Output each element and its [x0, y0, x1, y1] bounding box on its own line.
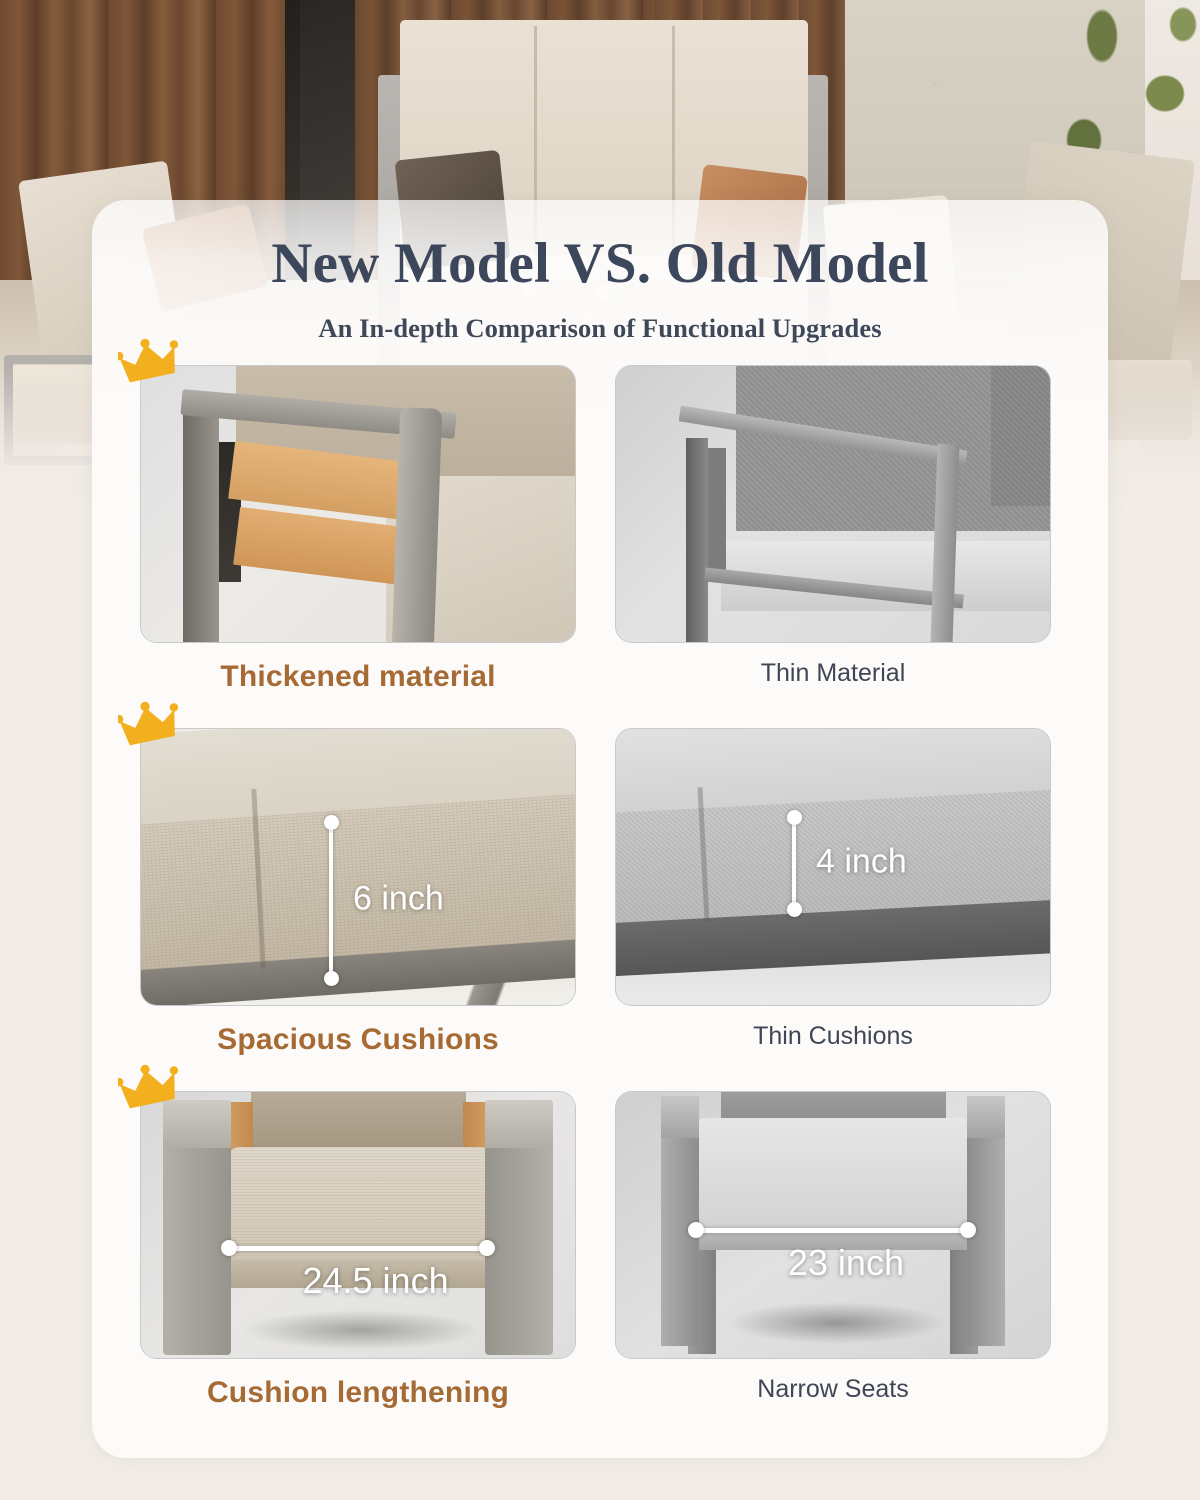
measurement-value: 6 inch — [353, 879, 444, 918]
new-model-cell-material: Thickened material — [140, 365, 576, 693]
comparison-row-seat-width: 24.5 inch Cushion lengthening — [92, 1091, 1108, 1454]
page-title: New Model VS. Old Model — [92, 230, 1108, 297]
old-model-image-material — [615, 365, 1051, 643]
new-model-cell-seat-width: 24.5 inch Cushion lengthening — [140, 1091, 576, 1409]
new-model-image-seat-width: 24.5 inch — [140, 1091, 576, 1359]
comparison-panel: New Model VS. Old Model An In-depth Comp… — [92, 200, 1108, 1458]
measurement-old-seat-width: 23 inch — [696, 1222, 968, 1238]
old-model-cell-seat-width: 23 inch Narrow Seats — [615, 1091, 1051, 1404]
old-model-label-material: Thin Material — [615, 660, 1051, 688]
header: New Model VS. Old Model An In-depth Comp… — [92, 200, 1108, 344]
comparison-row-cushions: 6 inch Spacious Cushions — [92, 728, 1108, 1091]
measurement-value: 23 inch — [788, 1242, 904, 1284]
measurement-new-seat-width: 24.5 inch — [229, 1240, 487, 1256]
old-model-image-cushions: 4 inch — [615, 728, 1051, 1006]
old-model-cell-cushions: 4 inch Thin Cushions — [615, 728, 1051, 1051]
new-model-label-seat-width: Cushion lengthening — [140, 1376, 576, 1409]
old-model-label-seat-width: Narrow Seats — [615, 1376, 1051, 1404]
measurement-value: 24.5 inch — [302, 1260, 448, 1302]
comparison-grid: Thickened material T — [92, 365, 1108, 1454]
new-model-label-cushions: Spacious Cushions — [140, 1023, 576, 1056]
old-model-cell-material: Thin Material — [615, 365, 1051, 688]
old-model-image-seat-width: 23 inch — [615, 1091, 1051, 1359]
new-model-label-material: Thickened material — [140, 660, 576, 693]
new-model-cell-cushions: 6 inch Spacious Cushions — [140, 728, 576, 1056]
comparison-row-material: Thickened material T — [92, 365, 1108, 728]
page-subtitle: An In-depth Comparison of Functional Upg… — [92, 313, 1108, 344]
old-model-label-cushions: Thin Cushions — [615, 1023, 1051, 1051]
new-model-image-material — [140, 365, 576, 643]
new-model-image-cushions: 6 inch — [140, 728, 576, 1006]
measurement-value: 4 inch — [816, 842, 907, 881]
